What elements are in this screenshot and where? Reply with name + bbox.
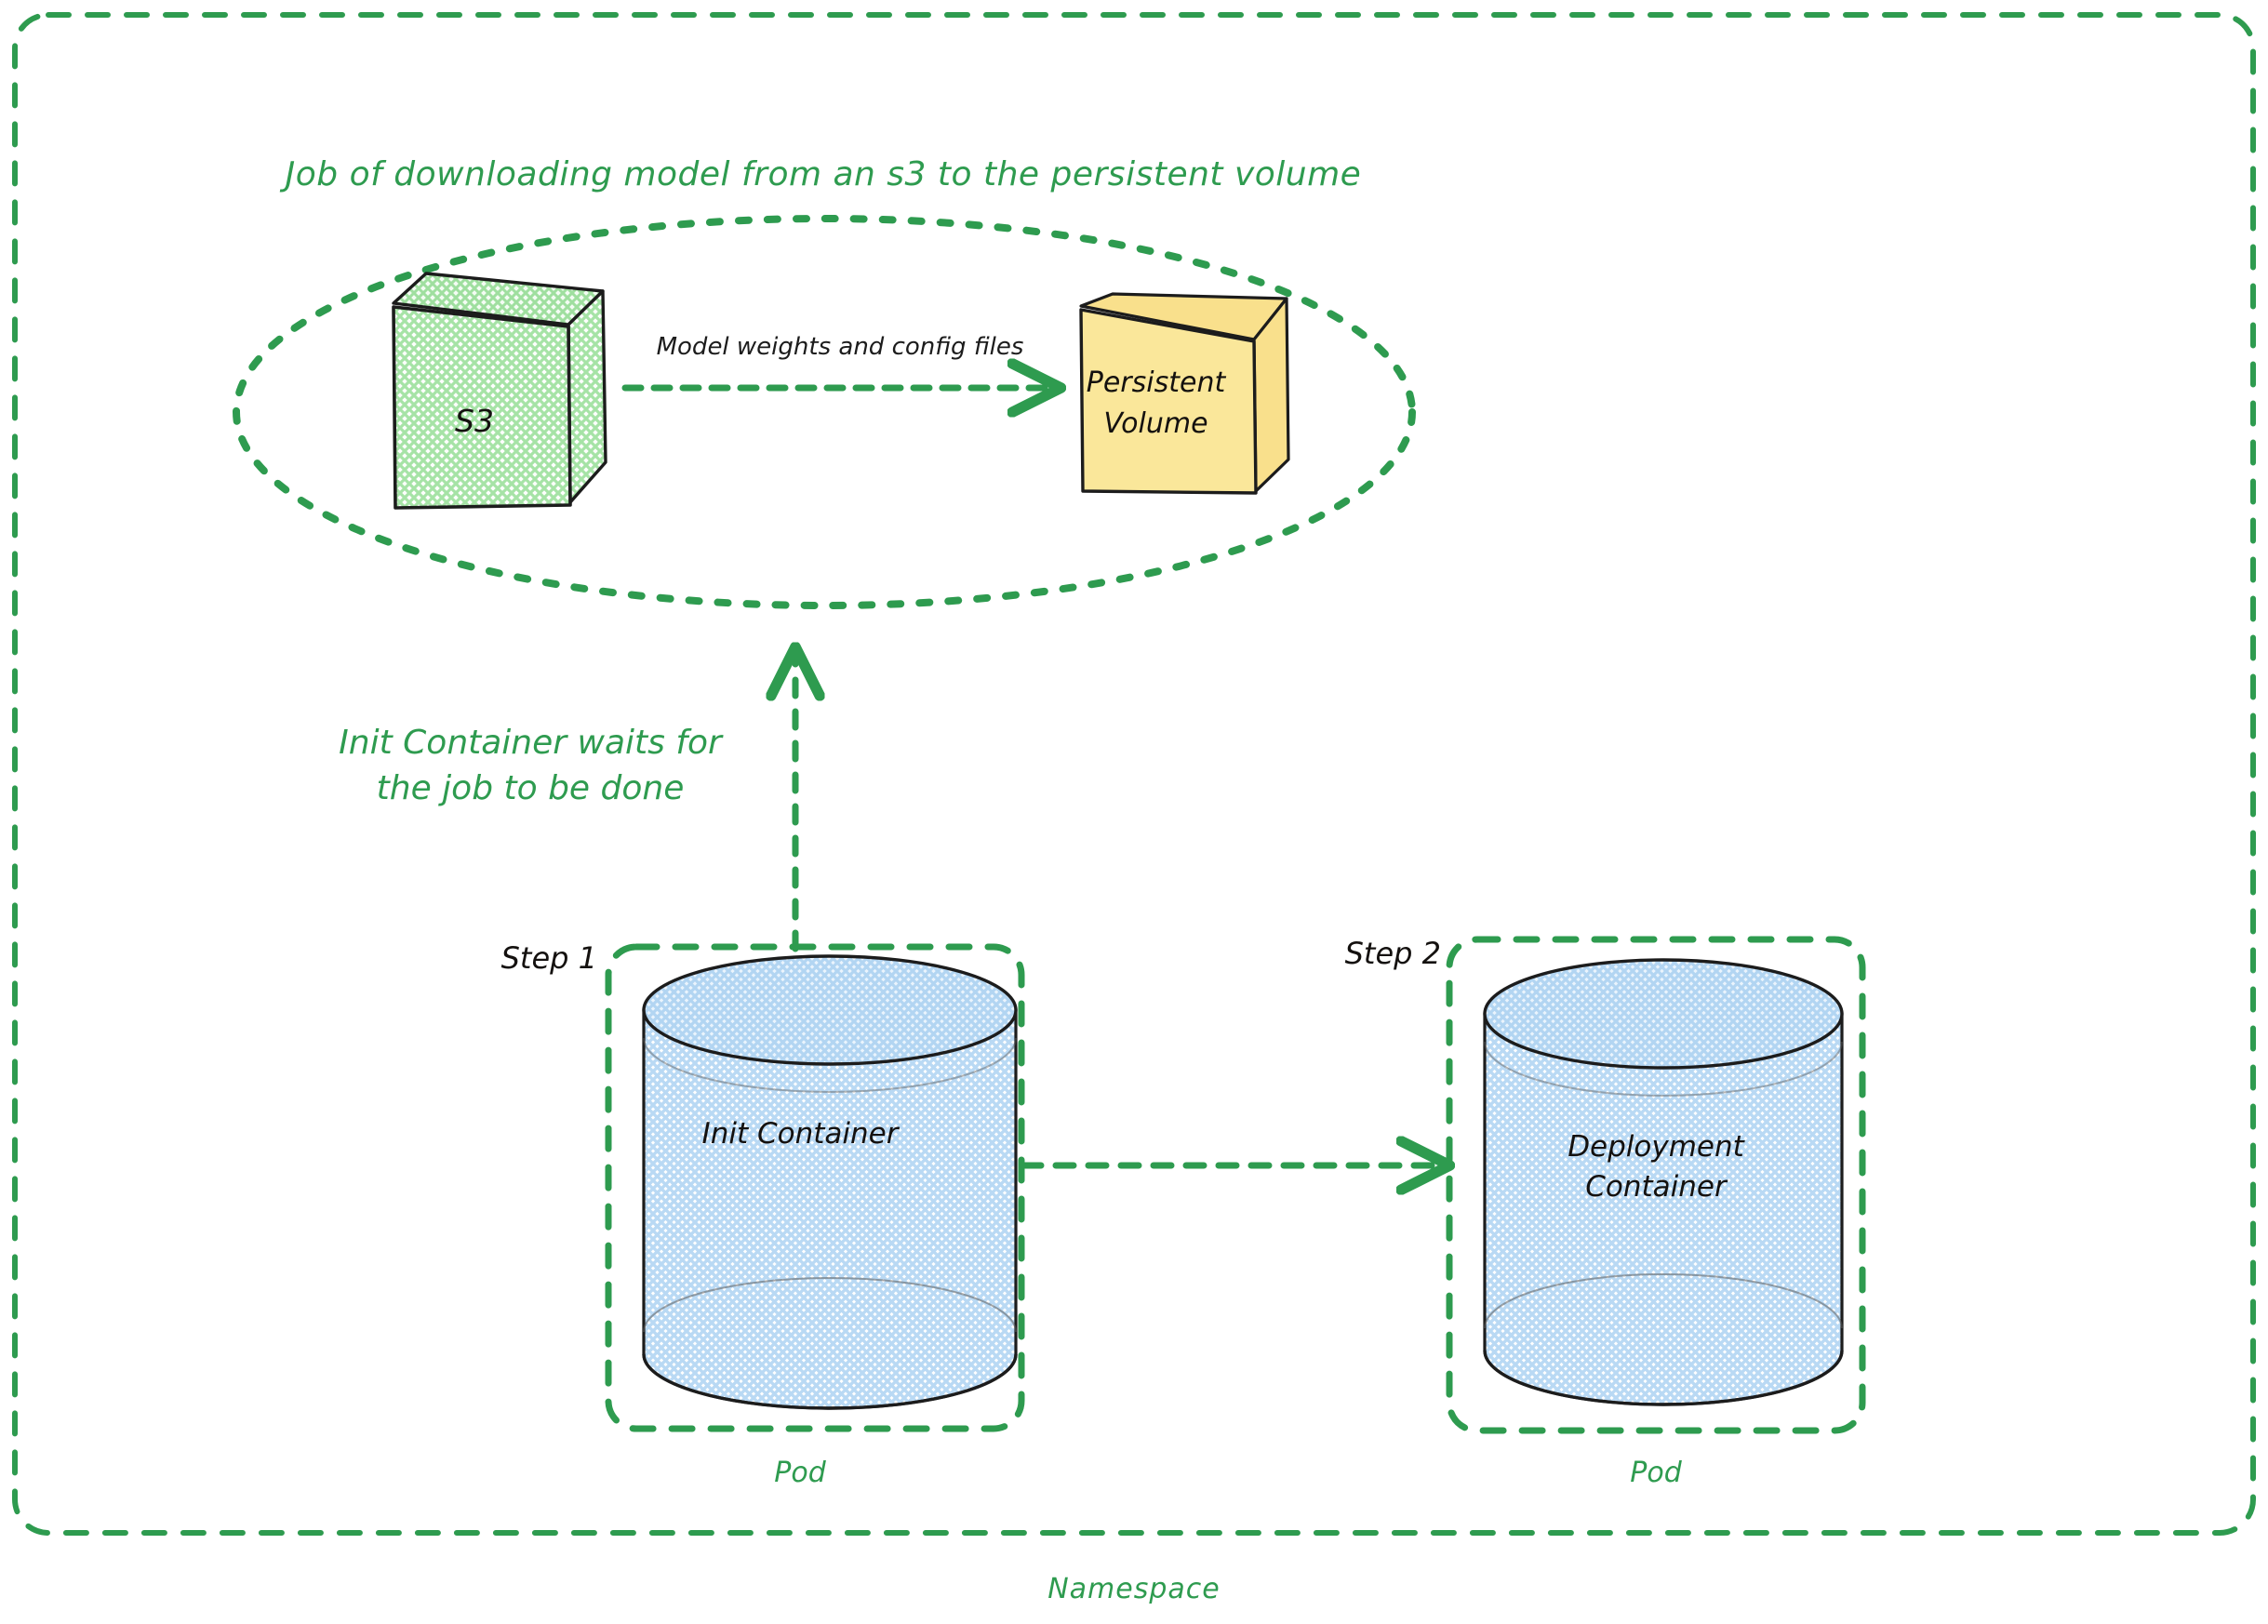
edge-label-model-weights: Model weights and config files [640, 332, 1040, 363]
diagram-vector-layer [0, 0, 2268, 1624]
deployment-container-label: DeploymentContainer [1470, 1127, 1842, 1208]
pod-2-label: Pod [1470, 1456, 1842, 1491]
diagram-canvas: Job of downloading model from an s3 to t… [0, 0, 2268, 1624]
s3-cube[interactable] [394, 273, 606, 508]
persistent-volume-label: PersistentVolume [1074, 363, 1237, 444]
job-group-title: Job of downloading model from an s3 to t… [0, 153, 1647, 195]
edge-label-init-waits: Init Container waits forthe job to be do… [279, 721, 781, 811]
s3-label: S3 [391, 402, 558, 440]
step-2-label: Step 2 [1315, 935, 1441, 972]
persistent-volume-label-line2: Volume [1103, 407, 1207, 440]
pod-1-label: Pod [614, 1456, 986, 1491]
persistent-volume-label-line1: Persistent [1087, 366, 1225, 399]
deployment-container-label-line1: Deployment [1568, 1130, 1744, 1164]
edge-label-init-waits-line1: Init Container waits for [339, 724, 722, 762]
step-1-label: Step 1 [476, 939, 597, 977]
init-container-label: Init Container [614, 1114, 986, 1154]
init-container-cylinder[interactable] [644, 956, 1016, 1408]
deployment-container-label-line2: Container [1585, 1170, 1727, 1204]
edge-label-init-waits-line2: the job to be done [377, 769, 685, 807]
namespace-label: Namespace [0, 1572, 2268, 1607]
